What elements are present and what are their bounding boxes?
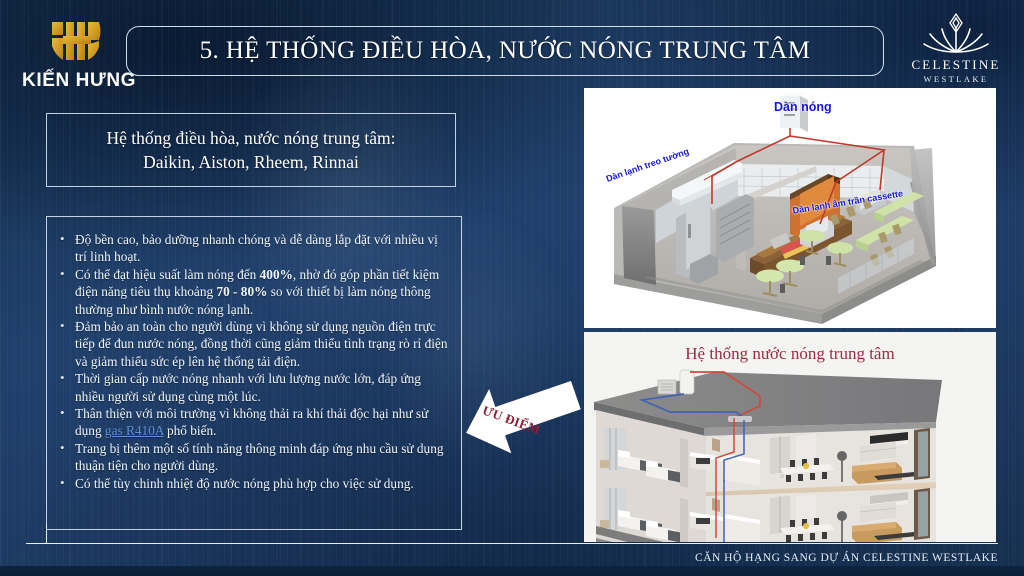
slide-canvas: KIẾN HƯNG 5. HỆ THỐNG ĐIỀU HÒA, NƯỚC NÓN…: [0, 0, 1024, 576]
ac-isometric-room-illustration: [584, 88, 996, 328]
footer-tick: [46, 524, 47, 544]
footer-band: [0, 566, 1024, 576]
brand-name: KIẾN HƯNG: [22, 70, 132, 92]
footer-divider: [26, 543, 998, 544]
gas-r410a-link[interactable]: gas R410A: [105, 423, 164, 438]
slide-title-box: 5. HỆ THỐNG ĐIỀU HÒA, NƯỚC NÓNG TRUNG TÂ…: [126, 26, 884, 76]
project-logo-line1: CELESTINE: [902, 57, 1010, 73]
project-logo-line2: WESTLAKE: [902, 74, 1010, 84]
central-hot-water-diagram-panel: Hệ thống nước nóng trung tâm: [584, 332, 996, 542]
advantage-list-item: Trang bị thêm một số tính năng thông min…: [57, 440, 449, 475]
advantage-list-item: Độ bền cao, bảo dưỡng nhanh chóng và dễ …: [57, 231, 449, 266]
advantage-list-item: Thân thiện với môi trường vì không thải …: [57, 405, 449, 440]
kien-hung-h-monogram-icon: [46, 16, 108, 66]
advantages-list: Độ bền cao, bảo dưỡng nhanh chóng và dễ …: [57, 231, 449, 492]
subtitle-panel: Hệ thống điều hòa, nước nóng trung tâm: …: [46, 113, 456, 187]
advantage-list-item: Có thể đạt hiệu suất làm nóng đến 400%, …: [57, 266, 449, 318]
brand-logo: KIẾN HƯNG: [22, 16, 132, 98]
footer-text: CĂN HỘ HẠNG SANG DỰ ÁN CELESTINE WESTLAK…: [695, 552, 998, 564]
celestine-lotus-diamond-icon: [913, 12, 999, 56]
ac-system-diagram-panel: Dàn nóng Dàn lạnh treo tường Dàn lạnh âm…: [584, 88, 996, 328]
label-outdoor-unit: Dàn nóng: [774, 100, 832, 114]
page-title: 5. HỆ THỐNG ĐIỀU HÒA, NƯỚC NÓNG TRUNG TÂ…: [200, 37, 811, 65]
advantage-list-item: Đảm bảo an toàn cho người dùng vì không …: [57, 318, 449, 370]
subtitle-line-2: Daikin, Aiston, Rheem, Rinnai: [143, 150, 359, 174]
left-arrow-icon: [455, 358, 587, 470]
advantages-panel: Độ bền cao, bảo dưỡng nhanh chóng và dễ …: [46, 216, 462, 530]
building-cutaway-illustration: [584, 332, 996, 542]
project-logo: CELESTINE WESTLAKE: [902, 12, 1010, 92]
advantage-list-item: Thời gian cấp nước nóng nhanh với lưu lư…: [57, 370, 449, 405]
advantage-arrow: ƯU ĐIỂM: [455, 358, 587, 470]
advantage-list-item: Có thể tùy chinh nhiệt độ nước nóng phù …: [57, 475, 449, 492]
subtitle-line-1: Hệ thống điều hòa, nước nóng trung tâm:: [107, 126, 396, 150]
